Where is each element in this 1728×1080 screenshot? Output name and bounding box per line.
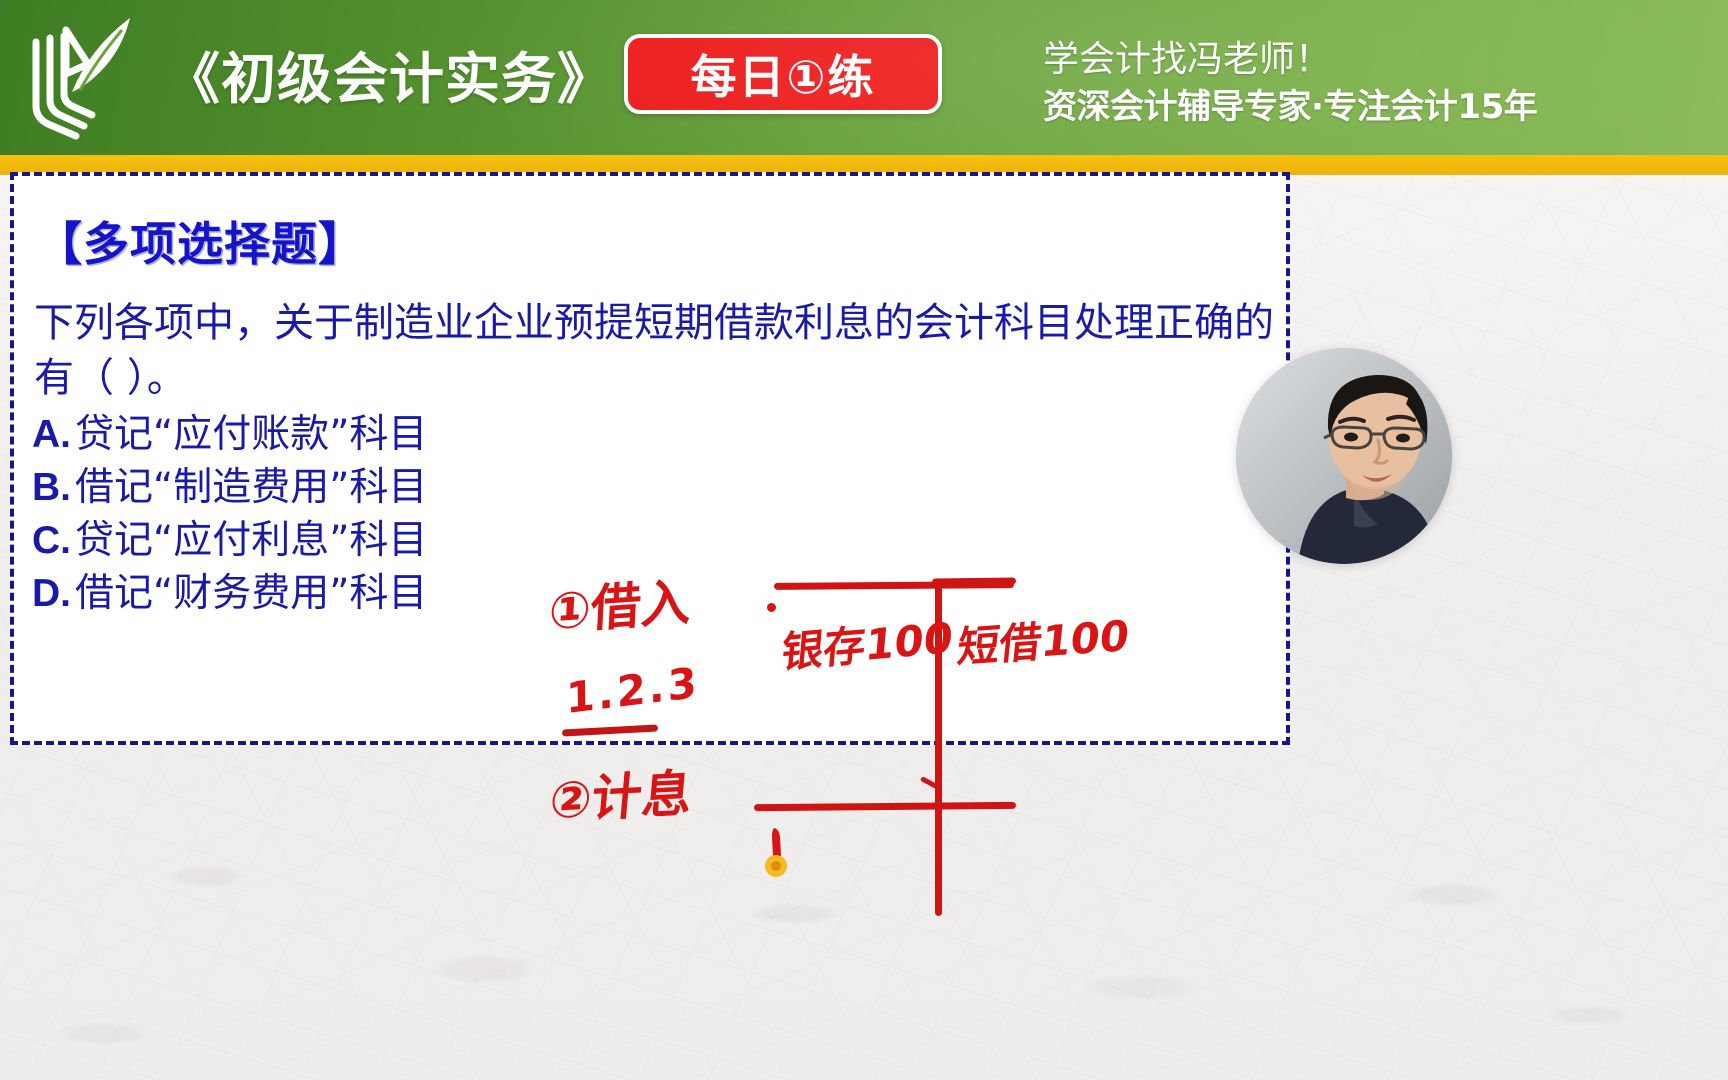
t-account-debit-label: 银存100: [779, 604, 955, 681]
daily-practice-badge[interactable]: 每日①练: [624, 34, 942, 114]
option-item-d[interactable]: D.借记“财务费用”科目: [32, 567, 427, 620]
annotation-ink-dot: [767, 603, 776, 612]
t-account-top-line-right: [932, 577, 1016, 585]
question-slide-panel: 【多项选择题】 下列各项中，关于制造业企业预提短期借款利息的会计科目处理正确的有…: [10, 172, 1290, 745]
page-title: 《初级会计实务》: [165, 34, 613, 114]
option-text-a: 贷记“应付账款”科目: [75, 412, 427, 457]
tagline-block: 学会计找冯老师！ 资深会计辅导专家·专注会计15年: [1043, 36, 1537, 130]
question-type-heading: 【多项选择题】: [36, 208, 365, 274]
option-item-b[interactable]: B.借记“制造费用”科目: [32, 461, 427, 514]
annotation-numbers-underline: [562, 724, 658, 736]
option-text-c: 贷记“应付利息”科目: [75, 518, 427, 563]
book-feather-logo-icon: [18, 14, 150, 142]
option-letter-d: D.: [32, 572, 71, 615]
option-text-b: 借记“制造费用”科目: [75, 465, 427, 510]
daily-practice-badge-label: 每日①练: [691, 41, 876, 107]
option-item-a[interactable]: A.贷记“应付账款”科目: [32, 408, 427, 461]
option-item-c[interactable]: C.贷记“应付利息”科目: [32, 514, 427, 567]
instructor-video-bubble[interactable]: [1236, 348, 1452, 564]
option-letter-a: A.: [32, 413, 71, 456]
option-letter-c: C.: [32, 519, 71, 562]
annotation-step-1: ①借入: [547, 562, 693, 644]
options-list: A.贷记“应付账款”科目 B.借记“制造费用”科目 C.贷记“应付利息”科目 D…: [32, 408, 427, 620]
option-text-d: 借记“财务费用”科目: [75, 571, 427, 616]
question-stem-text: 下列各项中，关于制造业企业预提短期借款利息的会计科目处理正确的有（ ）。: [34, 296, 1284, 406]
red-pen-cursor-icon: [762, 826, 792, 878]
option-letter-b: B.: [32, 466, 71, 509]
header-banner: 《初级会计实务》 每日①练 学会计找冯老师！ 资深会计辅导专家·专注会计15年: [0, 0, 1728, 155]
tagline-line-1: 学会计找冯老师！: [1043, 36, 1537, 84]
annotation-step-2: ②计息: [547, 753, 695, 833]
annotation-numbers: 1.2.3: [566, 657, 700, 723]
tagline-line-2: 资深会计辅导专家·专注会计15年: [1043, 84, 1537, 130]
t-account-credit-label: 短借100: [955, 602, 1133, 676]
